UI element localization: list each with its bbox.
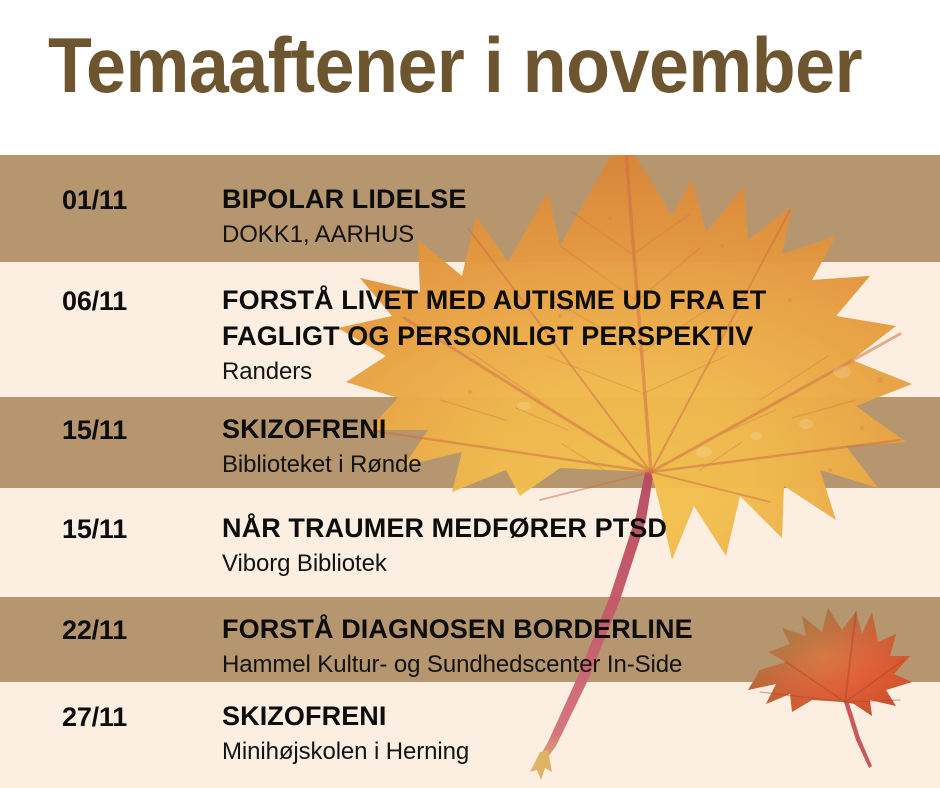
list-item[interactable]: 01/11 BIPOLAR LIDELSE DOKK1, AARHUS <box>0 155 940 262</box>
event-title: SKIZOFRENI <box>222 411 930 447</box>
event-title: FORSTÅ LIVET MED AUTISME UD FRA ET FAGLI… <box>222 282 930 354</box>
event-date: 15/11 <box>62 514 212 545</box>
event-body: SKIZOFRENI Biblioteket i Rønde <box>222 411 930 480</box>
event-body: FORSTÅ DIAGNOSEN BORDERLINE Hammel Kultu… <box>222 611 930 680</box>
event-location: Biblioteket i Rønde <box>222 449 930 480</box>
poster: Temaaftener i november 01/11 BIPOLAR LID… <box>0 0 940 788</box>
event-body: NÅR TRAUMER MEDFØRER PTSD Viborg Bibliot… <box>222 510 930 579</box>
event-date: 22/11 <box>62 615 212 646</box>
event-title: BIPOLAR LIDELSE <box>222 181 930 217</box>
event-location: DOKK1, AARHUS <box>222 219 930 250</box>
list-item[interactable]: 22/11 FORSTÅ DIAGNOSEN BORDERLINE Hammel… <box>0 597 940 682</box>
header: Temaaftener i november <box>0 0 940 155</box>
event-title: NÅR TRAUMER MEDFØRER PTSD <box>222 510 930 546</box>
event-date: 15/11 <box>62 415 212 446</box>
event-date: 06/11 <box>62 286 212 317</box>
event-location: Viborg Bibliotek <box>222 548 930 579</box>
event-date: 27/11 <box>62 702 212 733</box>
event-title: FORSTÅ DIAGNOSEN BORDERLINE <box>222 611 930 647</box>
list-item[interactable]: 06/11 FORSTÅ LIVET MED AUTISME UD FRA ET… <box>0 262 940 397</box>
event-location: Hammel Kultur- og Sundhedscenter In-Side <box>222 649 930 680</box>
list-item[interactable]: 15/11 SKIZOFRENI Biblioteket i Rønde <box>0 397 940 488</box>
event-body: BIPOLAR LIDELSE DOKK1, AARHUS <box>222 181 930 250</box>
event-body: SKIZOFRENI Minihøjskolen i Herning <box>222 698 930 767</box>
event-body: FORSTÅ LIVET MED AUTISME UD FRA ET FAGLI… <box>222 282 930 387</box>
list-item[interactable]: 27/11 SKIZOFRENI Minihøjskolen i Herning <box>0 682 940 788</box>
list-item[interactable]: 15/11 NÅR TRAUMER MEDFØRER PTSD Viborg B… <box>0 488 940 597</box>
event-title: SKIZOFRENI <box>222 698 930 734</box>
page-title: Temaaftener i november <box>48 22 862 108</box>
event-location: Minihøjskolen i Herning <box>222 736 930 767</box>
event-location: Randers <box>222 356 930 387</box>
event-date: 01/11 <box>62 185 212 216</box>
